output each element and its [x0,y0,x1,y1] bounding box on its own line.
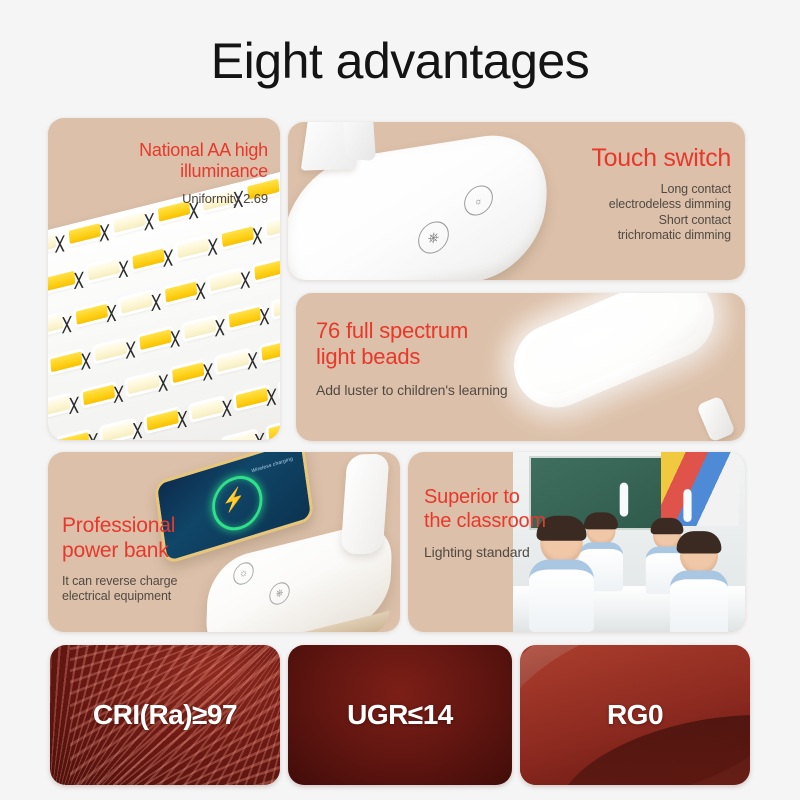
card-beads-text: 76 full spectrum light beads Add luster … [316,318,596,399]
lamp-folded-stem [340,453,389,554]
card-illuminance-headline: National AA high illuminance [68,140,268,182]
card-powerbank-subtext: It can reverse charge electrical equipme… [62,574,252,605]
sub-line-4: trichromatic dimming [481,228,731,244]
lamp-hinge-arm-lower [342,122,376,161]
metric-card-cri[interactable]: CRI(Ra)≥97 [50,645,280,785]
card-touch-subtext: Long contact electrodeless dimming Short… [481,182,731,244]
sub-line-1: Long contact [481,182,731,198]
headline-line-1: 76 full spectrum [316,318,468,343]
metric-cri-label: CRI(Ra)≥97 [93,699,237,731]
sub-line-1: It can reverse charge [62,574,252,589]
headline-line-2: power bank [62,539,169,562]
metric-ugr-label: UGR≤14 [347,699,453,731]
wall-poster [661,452,739,526]
card-powerbank-text: Professional power bank It can reverse c… [62,514,252,604]
card-beads-headline: 76 full spectrum light beads [316,318,596,370]
headline-line-2: the classroom [424,510,546,532]
metric-card-ugr[interactable]: UGR≤14 [288,645,512,785]
headline-line-1: Professional [62,514,175,537]
headline-line-1: National AA high [139,140,268,160]
card-power-bank[interactable]: ☼ ⎈ Wireless charging ⚡ Professional pow… [48,452,400,632]
page-title: Eight advantages [0,36,800,86]
headline-line-2: illuminance [180,161,268,181]
sub-line-2: electrodeless dimming [481,197,731,213]
card-classroom-text: Superior to the classroom Lighting stand… [424,486,609,561]
metric-card-rg0[interactable]: RG0 [520,645,750,785]
card-touch-switch[interactable]: ☼ ⎈ Touch switch Long contact electrodel… [288,122,745,280]
card-national-aa-illuminance[interactable]: ╳ ╳ ╳ ╳ ╳ ╳ ╳ ╳ ╳ ╳ ╳ ╳ [48,118,280,440]
card-classroom-subtext: Lighting standard [424,544,609,561]
sub-line-2: electrical equipment [62,589,252,604]
sub-line-3: Short contact [481,213,731,229]
card-classroom[interactable]: Superior to the classroom Lighting stand… [408,452,745,632]
card-beads-subtext: Add luster to children's learning [316,382,596,399]
card-illuminance-text: National AA high illuminance Uniformity … [68,140,268,207]
card-touch-text: Touch switch Long contact electrodeless … [481,144,731,244]
phone-status-text: Wireless charging [251,456,293,475]
headline-line-2: light beads [316,344,420,369]
card-classroom-headline: Superior to the classroom [424,486,609,533]
lamp-head-hinge [696,396,736,441]
headline-line-1: Superior to [424,486,520,508]
card-powerbank-headline: Professional power bank [62,514,252,564]
card-light-beads[interactable]: 76 full spectrum light beads Add luster … [296,293,745,441]
card-illuminance-subtext: Uniformity 2.69 [68,191,268,207]
metric-rg0-label: RG0 [607,699,663,731]
student-front-right [670,537,728,632]
card-touch-headline: Touch switch [481,144,731,174]
infographic-page: Eight advantages ╳ ╳ ╳ ╳ ╳ ╳ [0,0,800,800]
